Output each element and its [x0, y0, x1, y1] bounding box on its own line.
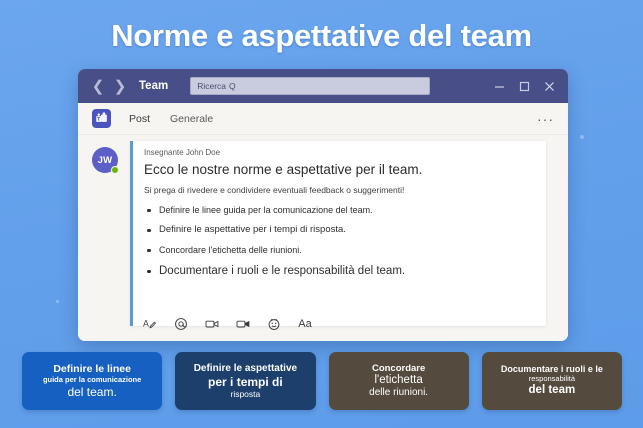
card-line-2: per i tempi di [208, 375, 283, 389]
card-line-1: Definire le linee [53, 363, 131, 375]
presence-available-icon [111, 166, 119, 174]
card-line-2: responsabilità [529, 375, 575, 384]
card-line-2: l'etichetta [375, 374, 423, 388]
card-line-2: guida per la comunicazione [43, 376, 141, 385]
card-aspettative[interactable]: Definire le aspettative per i tempi di r… [175, 352, 315, 410]
tab-generale[interactable]: Generale [170, 113, 213, 125]
post-subtext: Si prega di rivedere e condividere event… [144, 185, 534, 195]
card-linee-guida[interactable]: Definire le linee guida per la comunicaz… [22, 352, 162, 410]
decorative-speck [56, 300, 59, 303]
search-placeholder: Ricerca [197, 81, 226, 91]
maximize-icon[interactable] [519, 81, 530, 92]
close-icon[interactable] [544, 81, 555, 92]
card-etichetta-riunioni[interactable]: Concordare l'etichetta delle riunioni. [329, 352, 469, 410]
list-item: Documentare i ruoli e le responsabilità … [144, 265, 534, 279]
card-line-3: del team. [67, 385, 116, 399]
card-line-3: delle riunioni. [369, 387, 428, 399]
page-background: Norme e aspettative del team ❮ ❯ Team Ri… [0, 0, 643, 428]
search-input[interactable]: Ricerca Q [190, 77, 430, 95]
page-title: Norme e aspettative del team [0, 18, 643, 54]
post-area: JW Insegnante John Doe Ecco le nostre no… [78, 135, 568, 341]
list-item: Concordare l'etichetta delle riunioni. [144, 245, 534, 256]
window-title: Team [139, 80, 168, 92]
window-controls [494, 81, 559, 92]
font-size-icon[interactable]: Aa [297, 316, 313, 332]
minimize-icon[interactable] [494, 81, 505, 92]
card-line-3: del team [529, 384, 576, 398]
summary-cards: Definire le linee guida per la comunicaz… [22, 352, 622, 410]
svg-text:A: A [143, 319, 149, 329]
card-line-1: Definire le aspettative [194, 363, 297, 375]
avatar: JW [92, 147, 118, 173]
chevron-left-icon[interactable]: ❮ [87, 79, 109, 94]
compose-toolbar: A [142, 316, 313, 332]
chevron-right-icon[interactable]: ❯ [109, 79, 131, 94]
card-line-3: risposta [230, 389, 260, 399]
mention-icon[interactable] [173, 316, 189, 332]
teams-icon [92, 109, 111, 128]
card-ruoli-responsabilita[interactable]: Documentare i ruoli e le responsabilità … [482, 352, 622, 410]
card-line-1: Concordare [372, 363, 425, 374]
decorative-speck [580, 135, 584, 139]
list-item: Definire le aspettative per i tempi di r… [144, 224, 534, 235]
post-author: Insegnante John Doe [144, 148, 534, 157]
list-item: Definire le linee guida per la comunicaz… [144, 205, 534, 216]
video-clip-icon[interactable] [235, 316, 251, 332]
overflow-menu-icon[interactable]: ··· [537, 112, 554, 126]
tab-post[interactable]: Post [129, 113, 150, 125]
format-text-icon[interactable]: A [142, 316, 158, 332]
post-card: Insegnante John Doe Ecco le nostre norme… [130, 141, 546, 326]
emoji-icon[interactable] [266, 316, 282, 332]
post-bullet-list: Definire le linee guida per la comunicaz… [144, 205, 534, 279]
channel-toolbar: Post Generale ··· [78, 103, 568, 135]
teams-window: ❮ ❯ Team Ricerca Q [78, 69, 568, 341]
window-titlebar: ❮ ❯ Team Ricerca Q [78, 69, 568, 103]
post-heading: Ecco le nostre norme e aspettative per i… [144, 162, 534, 178]
search-icon: Q [229, 81, 236, 91]
video-icon[interactable] [204, 316, 220, 332]
